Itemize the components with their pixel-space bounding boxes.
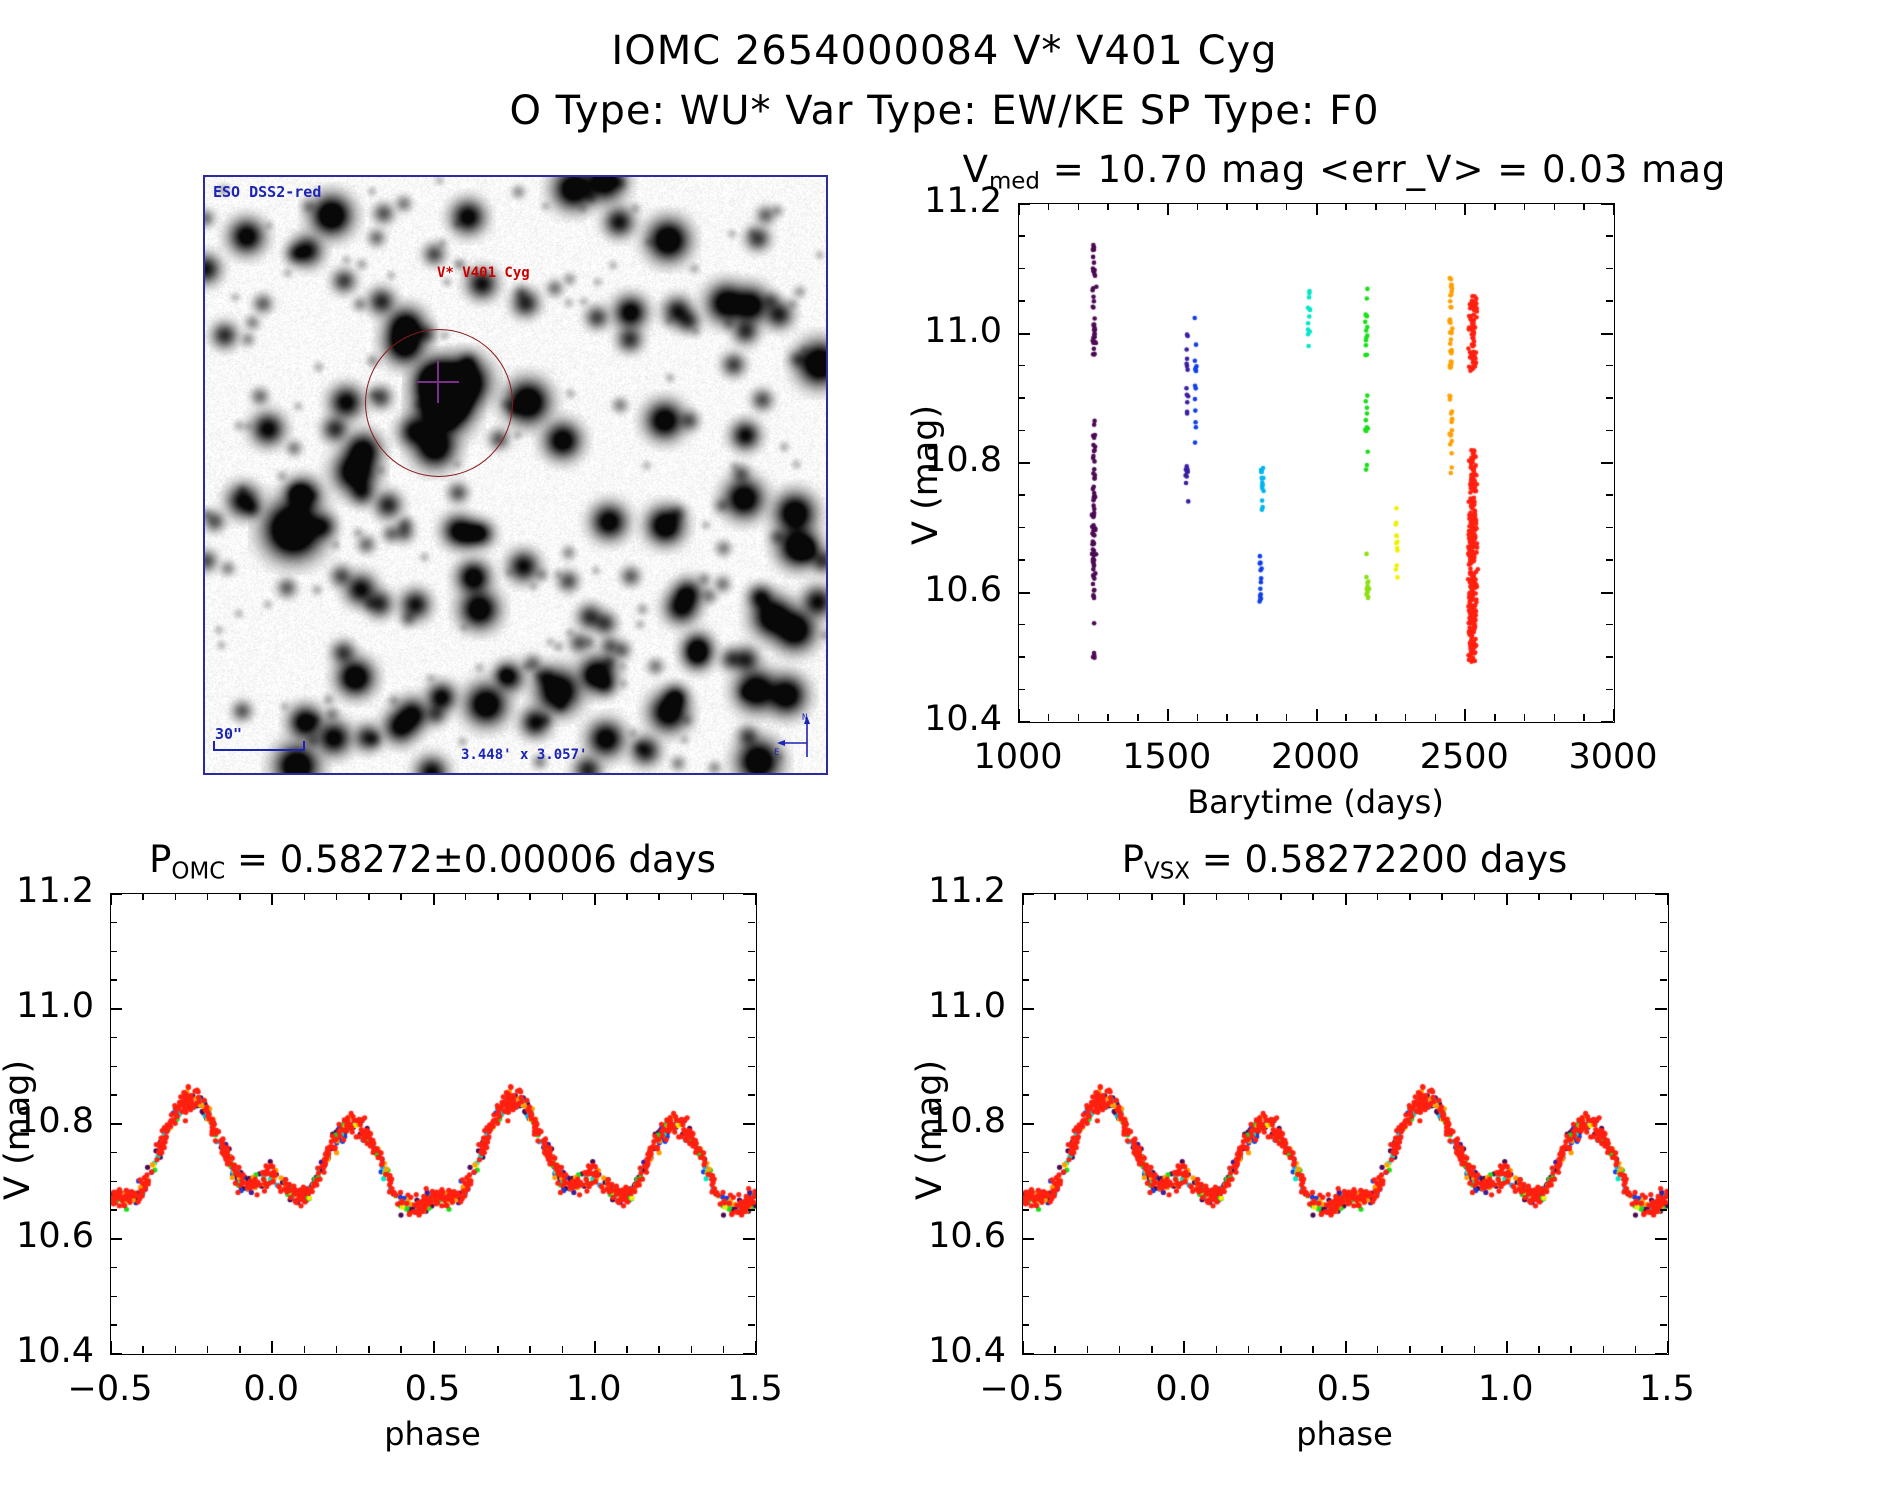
axis-tick: [1022, 1296, 1029, 1298]
axis-tick: [1345, 893, 1347, 900]
axis-tick: [1137, 714, 1139, 721]
axis-tick: [1570, 893, 1572, 900]
axis-tick: [1606, 300, 1613, 302]
axis-tick: [1078, 203, 1080, 210]
axis-tick: [1464, 714, 1466, 721]
axis-tick: [1022, 1094, 1029, 1096]
axis-tick: [110, 1267, 117, 1269]
axis-tick: [1226, 203, 1228, 210]
pvsx-value-text: = 0.58272200 days: [1190, 838, 1567, 881]
axis-tick: [748, 951, 755, 953]
axis-tick: [1018, 235, 1025, 237]
axis-tick: [1660, 893, 1667, 895]
pomc-symbol: P: [149, 838, 171, 881]
axis-tick: [110, 1066, 117, 1068]
axis-tick-label: 11.2: [924, 181, 1002, 221]
axis-tick: [748, 1037, 755, 1039]
axis-tick: [748, 1238, 755, 1240]
axis-tick: [1538, 893, 1540, 900]
axis-tick: [1137, 203, 1139, 210]
axis-tick: [1018, 721, 1025, 723]
axis-tick: [1603, 893, 1605, 900]
axis-tick-label: −0.5: [980, 1369, 1065, 1409]
axis-tick: [755, 893, 757, 900]
axis-tick-label: 10.4: [924, 699, 1002, 739]
pvsx-subscript: VSX: [1144, 858, 1190, 884]
phase-omc-plot[interactable]: [110, 893, 757, 1355]
axis-tick: [207, 1346, 209, 1353]
axis-tick: [368, 893, 370, 900]
axis-tick: [1613, 714, 1615, 721]
axis-tick-label: 2500: [1420, 737, 1509, 777]
axis-tick: [1660, 1238, 1667, 1240]
axis-tick: [748, 1353, 755, 1355]
axis-tick: [1197, 203, 1199, 210]
axis-tick: [626, 893, 628, 900]
axis-tick: [1660, 922, 1667, 924]
axis-tick: [1409, 1346, 1411, 1353]
axis-tick-label: 1000: [973, 737, 1062, 777]
axis-tick: [1506, 893, 1508, 900]
axis-tick-label: 10.6: [16, 1216, 94, 1256]
axis-tick: [1606, 333, 1613, 335]
axis-tick: [1660, 1037, 1667, 1039]
axis-tick: [1660, 1353, 1667, 1355]
axis-tick: [1660, 1296, 1667, 1298]
axis-tick: [175, 893, 177, 900]
axis-tick: [1312, 1346, 1314, 1353]
axis-tick: [1167, 714, 1169, 721]
axis-tick: [1524, 714, 1526, 721]
axis-tick: [1660, 1152, 1667, 1154]
axis-tick: [1606, 203, 1613, 205]
axis-tick: [1022, 1267, 1029, 1269]
axis-tick: [691, 893, 693, 900]
axis-tick-label: 0.5: [405, 1369, 461, 1409]
page-title-line1: IOMC 2654000084 V* V401 Cyg: [0, 28, 1889, 74]
axis-tick: [1606, 365, 1613, 367]
axis-tick: [1022, 1181, 1029, 1183]
axis-tick: [1078, 714, 1080, 721]
axis-tick: [562, 1346, 564, 1353]
axis-tick: [110, 893, 117, 895]
axis-tick: [1151, 893, 1153, 900]
pvsx-symbol: P: [1122, 838, 1144, 881]
axis-tick: [1583, 714, 1585, 721]
axis-tick: [748, 1267, 755, 1269]
axis-tick: [1018, 300, 1025, 302]
axis-tick: [465, 893, 467, 900]
axis-tick: [1018, 365, 1025, 367]
axis-tick: [1606, 268, 1613, 270]
axis-tick: [1018, 714, 1020, 721]
sky-scale-tick-left: [213, 741, 215, 751]
axis-tick: [1183, 893, 1185, 900]
axis-tick: [368, 1346, 370, 1353]
axis-tick: [562, 893, 564, 900]
pomc-value-text: = 0.58272±0.00006 days: [225, 838, 716, 881]
axis-tick: [1603, 1346, 1605, 1353]
axis-tick: [1606, 721, 1613, 723]
axis-tick: [748, 1094, 755, 1096]
axis-tick: [1660, 1094, 1667, 1096]
axis-tick-label: 1.5: [727, 1369, 783, 1409]
sky-scale-bar: [213, 749, 305, 751]
axis-tick: [1167, 203, 1169, 210]
axis-tick: [1018, 430, 1025, 432]
axis-tick: [1405, 203, 1407, 210]
axis-tick: [1606, 494, 1613, 496]
axis-tick: [271, 893, 273, 900]
axis-tick: [1405, 714, 1407, 721]
axis-tick: [1606, 656, 1613, 658]
axis-tick: [1345, 1346, 1347, 1353]
axis-tick: [1660, 1267, 1667, 1269]
axis-tick: [1048, 714, 1050, 721]
axis-tick: [142, 893, 144, 900]
axis-tick: [1606, 689, 1613, 691]
axis-tick: [1018, 203, 1025, 205]
axis-tick: [1660, 1324, 1667, 1326]
axis-tick: [1441, 893, 1443, 900]
axis-tick: [207, 893, 209, 900]
axis-tick: [748, 922, 755, 924]
axis-tick: [465, 1346, 467, 1353]
page-title-line2: O Type: WU* Var Type: EW/KE SP Type: F0: [0, 88, 1889, 134]
axis-tick: [497, 1346, 499, 1353]
axis-tick: [110, 1181, 117, 1183]
axis-tick: [1087, 893, 1089, 900]
axis-tick-label: 11.0: [928, 986, 1006, 1026]
axis-tick: [1312, 893, 1314, 900]
axis-tick-label: 0.0: [1155, 1369, 1211, 1409]
axis-tick: [1248, 1346, 1250, 1353]
axis-tick: [1022, 1152, 1029, 1154]
axis-tick: [1286, 714, 1288, 721]
axis-tick: [400, 1346, 402, 1353]
axis-tick: [1441, 1346, 1443, 1353]
axis-tick: [1635, 893, 1637, 900]
axis-tick: [748, 1324, 755, 1326]
axis-tick: [110, 1238, 117, 1240]
axis-tick: [748, 1181, 755, 1183]
axis-tick-label: 0.5: [1317, 1369, 1373, 1409]
axis-tick: [1464, 203, 1466, 210]
phase-omc-panel-title: POMC = 0.58272±0.00006 days: [110, 838, 755, 884]
axis-tick: [594, 1346, 596, 1353]
axis-tick-label: 1500: [1122, 737, 1211, 777]
axis-tick: [1216, 893, 1218, 900]
axis-tick: [110, 1296, 117, 1298]
axis-tick: [1660, 979, 1667, 981]
axis-tick: [1018, 494, 1025, 496]
vmed-value-text: = 10.70 mag <err_V> = 0.03 mag: [1040, 148, 1726, 191]
axis-tick: [1435, 714, 1437, 721]
axis-tick: [1107, 714, 1109, 721]
axis-tick: [1183, 1346, 1185, 1353]
axis-tick: [400, 893, 402, 900]
axis-tick-label: 11.0: [16, 986, 94, 1026]
axis-tick: [1583, 203, 1585, 210]
axis-tick: [1248, 893, 1250, 900]
sky-survey-image[interactable]: ESO DSS2-red V* V401 Cyg 30" 3.448' x 3.…: [203, 175, 828, 775]
axis-tick: [748, 1066, 755, 1068]
axis-tick: [1660, 951, 1667, 953]
y-axis-label: V (mag): [0, 1060, 38, 1200]
axis-tick: [1022, 1324, 1029, 1326]
axis-tick: [175, 1346, 177, 1353]
axis-tick: [1280, 1346, 1282, 1353]
axis-tick: [110, 1209, 117, 1211]
axis-tick: [110, 1152, 117, 1154]
axis-tick: [1474, 893, 1476, 900]
axis-tick: [1494, 714, 1496, 721]
axis-tick: [1022, 922, 1029, 924]
axis-tick: [1570, 1346, 1572, 1353]
sky-compass-icon: N E: [774, 713, 814, 759]
axis-tick: [1280, 893, 1282, 900]
sky-crosshair-vertical: [437, 361, 439, 403]
axis-tick: [1216, 1346, 1218, 1353]
axis-tick: [1018, 689, 1025, 691]
phase-omc-data-canvas: [111, 894, 756, 1354]
axis-tick: [755, 1346, 757, 1353]
x-axis-label: phase: [1296, 1415, 1393, 1453]
axis-tick: [336, 893, 338, 900]
axis-tick: [110, 979, 117, 981]
axis-tick: [1256, 714, 1258, 721]
axis-tick: [1606, 397, 1613, 399]
axis-tick: [1377, 1346, 1379, 1353]
axis-tick: [1054, 1346, 1056, 1353]
axis-tick-label: 0.0: [243, 1369, 299, 1409]
axis-tick-label: 1.5: [1639, 1369, 1695, 1409]
axis-tick: [529, 1346, 531, 1353]
axis-tick-label: 2000: [1271, 737, 1360, 777]
axis-tick-label: 10.6: [924, 570, 1002, 610]
axis-tick: [1022, 1008, 1029, 1010]
axis-tick: [1606, 527, 1613, 529]
axis-tick: [1018, 592, 1025, 594]
axis-tick: [1022, 1066, 1029, 1068]
axis-tick: [1018, 656, 1025, 658]
axis-tick: [1538, 1346, 1540, 1353]
axis-tick: [658, 1346, 660, 1353]
sky-scale-label: 30": [215, 725, 242, 743]
axis-tick: [1018, 268, 1025, 270]
axis-tick: [271, 1346, 273, 1353]
axis-tick-label: −0.5: [68, 1369, 153, 1409]
sky-scale-tick-right: [303, 741, 305, 751]
axis-tick: [1018, 624, 1025, 626]
axis-tick: [1022, 1037, 1029, 1039]
axis-tick: [110, 1037, 117, 1039]
sky-dimensions-label: 3.448' x 3.057': [461, 747, 587, 763]
x-axis-label: Barytime (days): [1187, 783, 1444, 821]
axis-tick-label: 10.4: [928, 1331, 1006, 1371]
axis-tick: [748, 1209, 755, 1211]
axis-tick: [1316, 203, 1318, 210]
axis-tick-label: 11.0: [924, 311, 1002, 351]
axis-tick: [1606, 592, 1613, 594]
axis-tick: [1151, 1346, 1153, 1353]
axis-tick: [110, 1123, 117, 1125]
axis-tick: [1345, 203, 1347, 210]
sky-survey-label: ESO DSS2-red: [213, 183, 321, 201]
axis-tick: [748, 979, 755, 981]
axis-tick: [748, 893, 755, 895]
axis-tick: [110, 1094, 117, 1096]
y-axis-label: V (mag): [910, 1060, 950, 1200]
axis-tick: [1660, 1123, 1667, 1125]
axis-tick: [110, 922, 117, 924]
svg-text:E: E: [774, 748, 779, 758]
axis-tick: [239, 893, 241, 900]
axis-tick: [497, 893, 499, 900]
axis-tick: [1226, 714, 1228, 721]
axis-tick: [658, 893, 660, 900]
axis-tick: [239, 1346, 241, 1353]
axis-tick: [433, 893, 435, 900]
axis-tick: [304, 1346, 306, 1353]
axis-tick: [1667, 893, 1669, 900]
axis-tick-label: 11.2: [928, 871, 1006, 911]
axis-tick: [1107, 203, 1109, 210]
axis-tick: [1087, 1346, 1089, 1353]
axis-tick: [1660, 1008, 1667, 1010]
axis-tick: [110, 1324, 117, 1326]
axis-tick: [1606, 235, 1613, 237]
axis-tick: [1018, 397, 1025, 399]
axis-tick: [1018, 462, 1025, 464]
axis-tick: [1375, 714, 1377, 721]
axis-tick: [433, 1346, 435, 1353]
axis-tick: [1506, 1346, 1508, 1353]
axis-tick: [1345, 714, 1347, 721]
axis-tick: [110, 1346, 112, 1353]
axis-tick: [1018, 559, 1025, 561]
axis-tick: [142, 1346, 144, 1353]
axis-tick-label: 3000: [1568, 737, 1657, 777]
lightcurve-data-canvas: [1019, 204, 1614, 722]
axis-tick: [304, 893, 306, 900]
axis-tick: [1054, 893, 1056, 900]
axis-tick: [1435, 203, 1437, 210]
axis-tick: [1660, 1209, 1667, 1211]
axis-tick: [1660, 1181, 1667, 1183]
axis-tick: [1409, 893, 1411, 900]
pomc-subscript: OMC: [171, 858, 225, 884]
axis-tick: [1494, 203, 1496, 210]
axis-tick: [748, 1123, 755, 1125]
axis-tick: [1048, 203, 1050, 210]
axis-tick: [1554, 714, 1556, 721]
x-axis-label: phase: [384, 1415, 481, 1453]
axis-tick: [1119, 893, 1121, 900]
axis-tick: [1660, 1066, 1667, 1068]
axis-tick: [1554, 203, 1556, 210]
axis-tick: [748, 1008, 755, 1010]
axis-tick: [110, 951, 117, 953]
axis-tick: [1377, 893, 1379, 900]
axis-tick: [1474, 1346, 1476, 1353]
axis-tick-label: 10.6: [928, 1216, 1006, 1256]
axis-tick: [1022, 893, 1029, 895]
phase-vsx-plot[interactable]: [1022, 893, 1669, 1355]
axis-tick-label: 1.0: [566, 1369, 622, 1409]
y-axis-label: V (mag): [906, 405, 946, 545]
axis-tick-label: 10.4: [16, 1331, 94, 1371]
svg-text:N: N: [802, 713, 807, 723]
axis-tick: [1018, 527, 1025, 529]
axis-tick: [1022, 1238, 1029, 1240]
axis-tick: [748, 1152, 755, 1154]
axis-tick: [1667, 1346, 1669, 1353]
axis-tick: [110, 1008, 117, 1010]
axis-tick-label: 1.0: [1478, 1369, 1534, 1409]
axis-tick: [1375, 203, 1377, 210]
axis-tick: [626, 1346, 628, 1353]
axis-tick: [1022, 979, 1029, 981]
lightcurve-plot[interactable]: [1018, 203, 1615, 723]
sky-target-label: V* V401 Cyg: [437, 265, 530, 281]
axis-tick: [1256, 203, 1258, 210]
axis-tick: [1022, 1346, 1024, 1353]
phase-vsx-data-canvas: [1023, 894, 1668, 1354]
axis-tick: [691, 1346, 693, 1353]
axis-tick: [1606, 624, 1613, 626]
axis-tick: [529, 893, 531, 900]
axis-tick: [1286, 203, 1288, 210]
axis-tick: [1635, 1346, 1637, 1353]
axis-tick: [1613, 203, 1615, 210]
axis-tick: [1606, 462, 1613, 464]
axis-tick: [1022, 1353, 1029, 1355]
axis-tick: [1022, 1123, 1029, 1125]
axis-tick: [1524, 203, 1526, 210]
axis-tick: [1606, 430, 1613, 432]
axis-tick: [723, 1346, 725, 1353]
axis-tick: [1022, 1209, 1029, 1211]
axis-tick-label: 11.2: [16, 871, 94, 911]
phase-vsx-panel-title: PVSX = 0.58272200 days: [1022, 838, 1667, 884]
axis-tick: [748, 1296, 755, 1298]
axis-tick: [1606, 559, 1613, 561]
axis-tick: [1316, 714, 1318, 721]
axis-tick: [723, 893, 725, 900]
axis-tick: [1022, 951, 1029, 953]
axis-tick: [110, 1353, 117, 1355]
axis-tick: [594, 893, 596, 900]
axis-tick: [1119, 1346, 1121, 1353]
axis-tick: [1197, 714, 1199, 721]
axis-tick: [336, 1346, 338, 1353]
sky-aperture-circle: [365, 329, 513, 477]
axis-tick: [1018, 333, 1025, 335]
